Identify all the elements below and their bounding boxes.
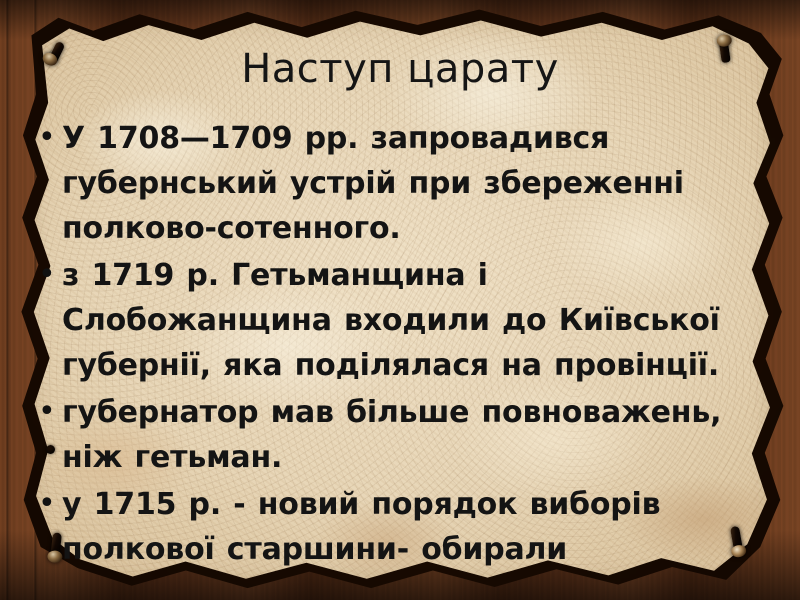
bullet-marker-icon: • [38, 116, 62, 160]
slide-content: Наступ царату • У 1708—1709 рр. запровад… [0, 0, 800, 600]
list-item-label: У 1708—1709 рр. запровадився губернський… [62, 116, 768, 251]
list-item: • у 1715 р. - новий порядок виборів полк… [38, 482, 768, 572]
list-item: • з 1719 р. Гетьманщина і Слобожанщина в… [38, 253, 768, 388]
list-item: • губернатор мав більше повноважень, ніж… [38, 390, 768, 480]
page-title: Наступ царату [0, 46, 800, 92]
list-item-label: у 1715 р. - новий порядок виборів полков… [62, 482, 768, 572]
list-item-label: з 1719 р. Гетьманщина і Слобожанщина вхо… [62, 253, 768, 388]
bullet-marker-icon: • [38, 253, 62, 297]
list-item: • У 1708—1709 рр. запровадився губернськ… [38, 116, 768, 251]
bullet-marker-icon: • [38, 390, 62, 434]
presentation-slide: Наступ царату • У 1708—1709 рр. запровад… [0, 0, 800, 600]
bullet-list: • У 1708—1709 рр. запровадився губернськ… [38, 116, 768, 574]
list-item-label: губернатор мав більше повноважень, ніж г… [62, 390, 768, 480]
bullet-marker-icon: • [38, 482, 62, 526]
